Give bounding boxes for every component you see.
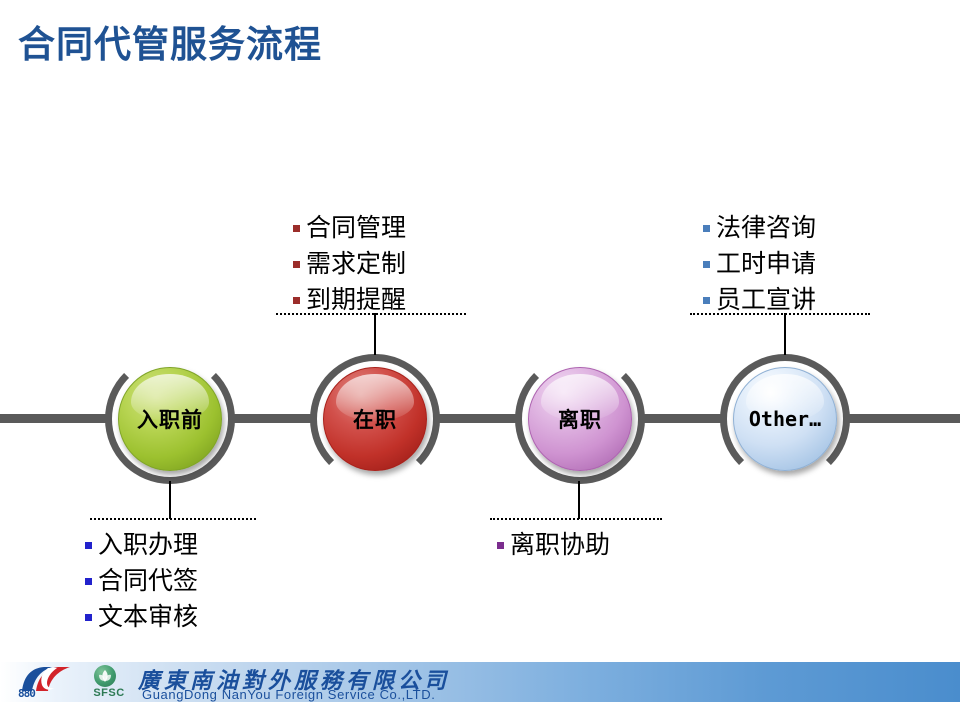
cnooc-logo-icon: 880 [18, 665, 74, 699]
bullet-square-icon [85, 614, 92, 621]
bullet-square-icon [703, 261, 710, 268]
node-sphere-offboard[interactable]: 离职 [528, 367, 632, 471]
footer-content: 880 SFSC 廣東南油對外服務有限公司 GuangDong NanYou F… [0, 662, 960, 702]
bullet-square-icon [703, 297, 710, 304]
bullet-square-icon [85, 542, 92, 549]
node-sphere-other[interactable]: Other… [733, 367, 837, 471]
node-label-other: Other… [749, 407, 821, 431]
list-item-label: 工时申请 [716, 252, 816, 277]
list-item: 到期提醒 [293, 282, 406, 318]
node-sphere-in-service[interactable]: 在职 [323, 367, 427, 471]
list-item: 合同代签 [85, 563, 198, 599]
list-item: 工时申请 [703, 246, 816, 282]
callout-pre-onboard-items: 入职办理 合同代签 文本审核 [85, 527, 198, 635]
sfsc-logo-icon: SFSC [86, 665, 132, 699]
node-label-offboard: 离职 [558, 404, 602, 434]
flow-line-segment-right [838, 414, 960, 423]
list-item-label: 入职办理 [98, 533, 198, 558]
leader-line-pre-onboard [169, 481, 171, 519]
list-item-label: 需求定制 [306, 252, 406, 277]
list-item-label: 离职协助 [510, 533, 610, 558]
bullet-square-icon [703, 225, 710, 232]
callout-other-items: 法律咨询 工时申请 员工宣讲 [703, 210, 816, 318]
list-item-label: 法律咨询 [716, 216, 816, 241]
callout-in-service-items: 合同管理 需求定制 到期提醒 [293, 210, 406, 318]
cnooc-logo-number: 880 [18, 687, 35, 700]
flow-line-segment-left [0, 414, 117, 423]
list-item: 员工宣讲 [703, 282, 816, 318]
list-item: 合同管理 [293, 210, 406, 246]
node-sphere-pre-onboard[interactable]: 入职前 [118, 367, 222, 471]
list-item: 法律咨询 [703, 210, 816, 246]
company-name-en: GuangDong NanYou Foreign Service Co.,LTD… [142, 687, 435, 702]
leader-dotted-pre-onboard [90, 518, 256, 520]
leader-line-other [784, 313, 786, 355]
list-item: 入职办理 [85, 527, 198, 563]
list-item-label: 到期提醒 [306, 288, 406, 313]
node-label-in-service: 在职 [353, 404, 397, 434]
list-item: 需求定制 [293, 246, 406, 282]
bullet-square-icon [293, 261, 300, 268]
bullet-square-icon [85, 578, 92, 585]
bullet-square-icon [293, 225, 300, 232]
footer-bar: 880 SFSC 廣東南油對外服務有限公司 GuangDong NanYou F… [0, 662, 960, 702]
leader-line-in-service [374, 313, 376, 355]
node-label-pre-onboard: 入职前 [137, 404, 203, 434]
page-title: 合同代管服务流程 [18, 26, 322, 63]
callout-offboard-items: 离职协助 [497, 527, 610, 563]
bullet-square-icon [293, 297, 300, 304]
list-item: 文本审核 [85, 599, 198, 635]
leader-line-offboard [578, 481, 580, 519]
list-item: 离职协助 [497, 527, 610, 563]
sfsc-logo-circle-icon [94, 665, 116, 687]
sfsc-logo-label: SFSC [86, 687, 132, 699]
bullet-square-icon [497, 542, 504, 549]
slide-canvas: 合同代管服务流程 入职前 在职 离职 [0, 0, 960, 720]
list-item-label: 员工宣讲 [716, 288, 816, 313]
list-item-label: 合同代签 [98, 569, 198, 594]
list-item-label: 合同管理 [306, 216, 406, 241]
list-item-label: 文本审核 [98, 605, 198, 630]
leader-dotted-offboard [490, 518, 662, 520]
